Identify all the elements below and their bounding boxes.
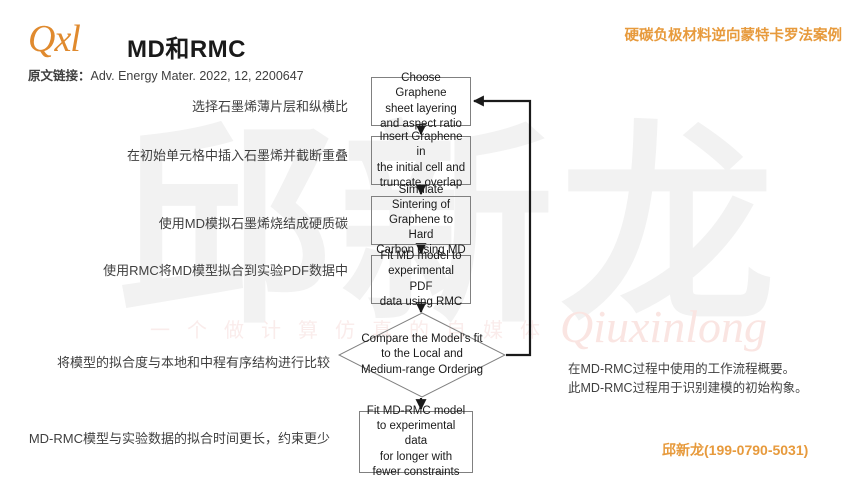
flow-node-compare-decision[interactable]: Compare the Model’s fit to the Local and… [338, 312, 506, 398]
flow-node-choose-graphene[interactable]: Choose Graphene sheet layering and aspec… [371, 77, 471, 126]
contact-info: 邱新龙(199-0790-5031) [662, 440, 808, 460]
slide-canvas: 邱新龙 一个做计算仿真的自媒体 Qiuxinlong Qxl MD和RMC 原文… [0, 0, 860, 484]
flow-node-insert-graphene[interactable]: Insert Graphene in the initial cell and … [371, 136, 471, 185]
flow-node-line: for longer with [380, 451, 452, 463]
flowchart: Choose Graphene sheet layering and aspec… [0, 0, 860, 484]
flow-node-line: Insert Graphene in [379, 131, 462, 158]
flow-node-line: Graphene to Hard [389, 214, 453, 241]
flow-node-line: Compare the Model’s fit [361, 333, 482, 345]
flow-node-line: Simulate Sintering of [392, 184, 450, 211]
flow-node-fit-md-model[interactable]: Fit MD model to experimental PDF data us… [371, 255, 471, 304]
flow-node-line: to the Local and [381, 348, 463, 360]
flow-node-line: Fit MD-RMC model [367, 405, 465, 417]
flow-node-line: and aspect ratio [380, 118, 462, 130]
flow-node-line: Choose Graphene [395, 72, 446, 99]
workflow-summary-line-2: 此MD-RMC过程用于识别建模的初始构象。 [568, 379, 808, 398]
flow-node-simulate-sintering[interactable]: Simulate Sintering of Graphene to Hard C… [371, 196, 471, 245]
flow-node-line: the initial cell and [377, 162, 465, 174]
flow-node-line: Fit MD model to [380, 250, 461, 262]
workflow-summary-line-1: 在MD-RMC过程中使用的工作流程概要。 [568, 360, 808, 379]
flow-node-line: fewer constraints [373, 466, 460, 478]
workflow-summary-note: 在MD-RMC过程中使用的工作流程概要。 此MD-RMC过程用于识别建模的初始构… [568, 360, 808, 398]
flow-node-line: experimental PDF [388, 265, 454, 292]
flow-node-line: sheet layering [385, 103, 457, 115]
flow-node-fit-md-rmc-model[interactable]: Fit MD-RMC model to experimental data fo… [359, 411, 473, 473]
flow-node-line: Medium-range Ordering [361, 364, 483, 376]
flow-node-line: to experimental data [377, 420, 456, 447]
flow-node-line: data using RMC [380, 296, 462, 308]
